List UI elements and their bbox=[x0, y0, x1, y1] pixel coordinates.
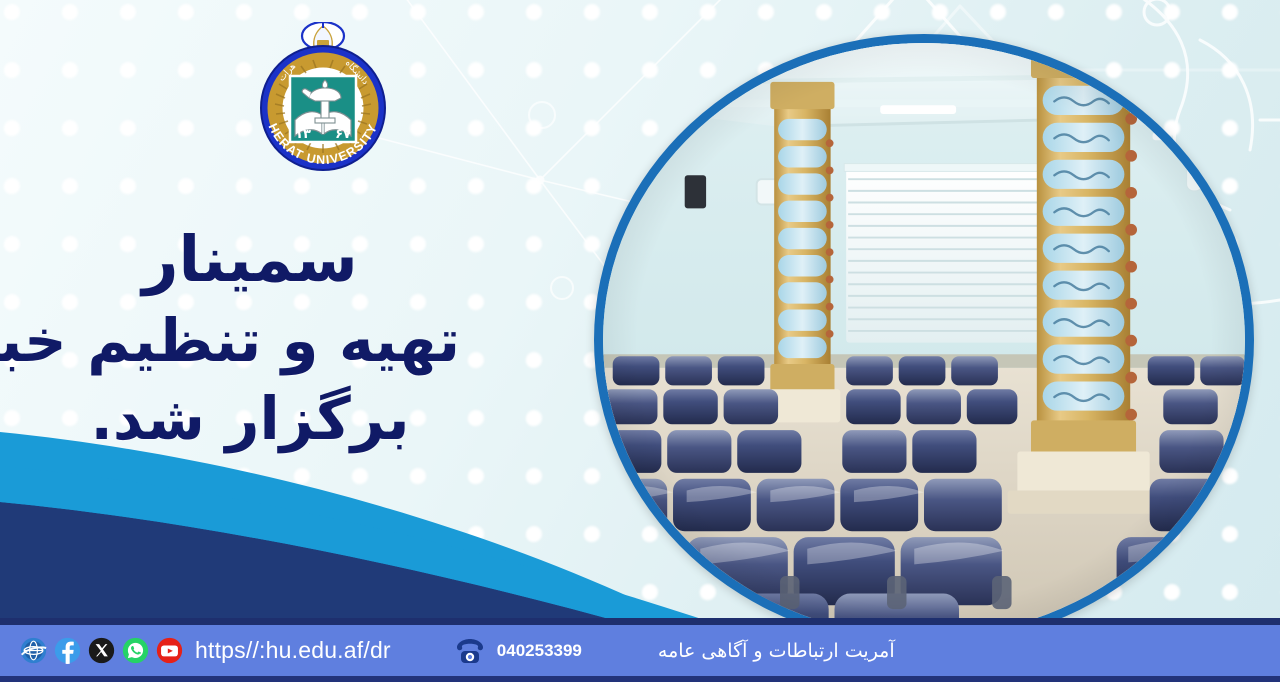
footer-top-strip bbox=[0, 618, 1280, 625]
hall-illustration bbox=[603, 43, 1245, 638]
x-twitter-icon[interactable] bbox=[88, 637, 115, 664]
seal-year-left: ۱۳ bbox=[295, 127, 311, 142]
announcement-banner: ۱۳ ۶۷ HERAT UNIVERSITY دانشگاه هرات سمین… bbox=[0, 0, 1280, 682]
phone-number[interactable]: 040253399 bbox=[497, 641, 582, 661]
seal-year-right: ۶۷ bbox=[335, 127, 351, 142]
herat-university-logo: ۱۳ ۶۷ HERAT UNIVERSITY دانشگاه هرات bbox=[243, 22, 403, 182]
telephone-icon bbox=[453, 636, 487, 666]
footer-bar: https//:hu.edu.af/dr 040253399 آمریت ارت… bbox=[0, 618, 1280, 682]
website-url[interactable]: https//:hu.edu.af/dr bbox=[195, 637, 391, 664]
headline-line-3: برگزار شد. bbox=[40, 383, 460, 455]
social-links bbox=[10, 637, 183, 664]
department-label: آمریت ارتباطات و آگاهی عامه bbox=[658, 640, 895, 662]
phone-contact: 040253399 bbox=[453, 636, 582, 666]
page-title: سمینار تهیه و تنظیم خبر برگزار شد. bbox=[40, 222, 460, 455]
seminar-hall-photo bbox=[594, 34, 1254, 646]
facebook-icon[interactable] bbox=[54, 637, 81, 664]
globe-icon[interactable] bbox=[20, 637, 47, 664]
whatsapp-icon[interactable] bbox=[122, 637, 149, 664]
youtube-icon[interactable] bbox=[156, 637, 183, 664]
headline-line-1: سمینار bbox=[40, 222, 460, 299]
university-seal-graphic: ۱۳ ۶۷ HERAT UNIVERSITY دانشگاه هرات bbox=[243, 22, 403, 182]
headline-line-2: تهیه و تنظیم خبر bbox=[40, 305, 460, 377]
footer-bottom-strip bbox=[0, 676, 1280, 682]
